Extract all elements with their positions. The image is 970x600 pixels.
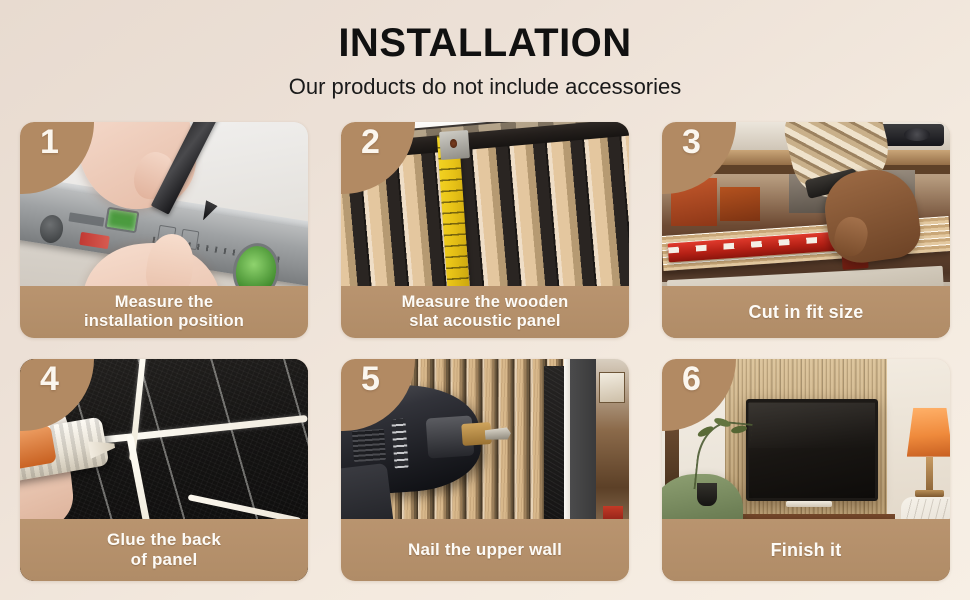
step-caption-5: Nail the upper wall: [341, 519, 629, 581]
plant-pot: [697, 483, 717, 505]
soundbar: [786, 501, 832, 507]
caption-line: of panel: [131, 550, 198, 569]
caption-line: Nail the upper wall: [408, 540, 562, 559]
page-subtitle: Our products do not include accessories: [0, 74, 970, 100]
floor-lamp-base: [915, 490, 944, 497]
step-card-3: 3 Cut in fit size: [662, 122, 950, 338]
step-number-1: 1: [40, 125, 59, 159]
caption-line: Glue the back: [107, 530, 221, 549]
step-card-6: 6 Finish it: [662, 359, 950, 581]
floor-lamp-stem: [926, 457, 933, 493]
drill-vents: [351, 429, 385, 462]
orange-crate-2: [720, 187, 760, 222]
step-number-3: 3: [682, 125, 701, 159]
step-caption-6: Finish it: [662, 519, 950, 581]
step-card-1: 1 Measure theinstallation position: [20, 122, 308, 338]
step-number-5: 5: [361, 362, 380, 396]
caption-line: Measure the: [115, 293, 214, 311]
step-number-6: 6: [682, 362, 701, 396]
step-caption-3: Cut in fit size: [662, 286, 950, 338]
caption-line: Finish it: [771, 540, 842, 560]
background-picture-frame: [599, 372, 625, 403]
step-caption-4: Glue the backof panel: [20, 519, 308, 581]
infographic-header: INSTALLATION Our products do not include…: [0, 0, 970, 100]
step-card-2: 2 Measure the woodenslat acoustic panel: [341, 122, 629, 338]
tv-screen-reflection: [748, 403, 875, 447]
floor-lamp-shade: [907, 408, 950, 457]
step-card-5: 5 Nail the upper wall: [341, 359, 629, 581]
caption-line: slat acoustic panel: [409, 312, 560, 330]
step-caption-1: Measure theinstallation position: [20, 286, 308, 338]
caption-line: Measure the wooden: [402, 293, 569, 311]
step-number-4: 4: [40, 362, 59, 396]
page-title: INSTALLATION: [0, 22, 970, 64]
step-caption-2: Measure the woodenslat acoustic panel: [341, 286, 629, 338]
step-card-4: 4 Glue the backof panel: [20, 359, 308, 581]
step-number-2: 2: [361, 125, 380, 159]
steps-grid: 1 Measure theinstallation position 2 Mea…: [20, 122, 950, 582]
caption-line: Cut in fit size: [749, 302, 864, 322]
caption-line: installation position: [84, 312, 244, 330]
